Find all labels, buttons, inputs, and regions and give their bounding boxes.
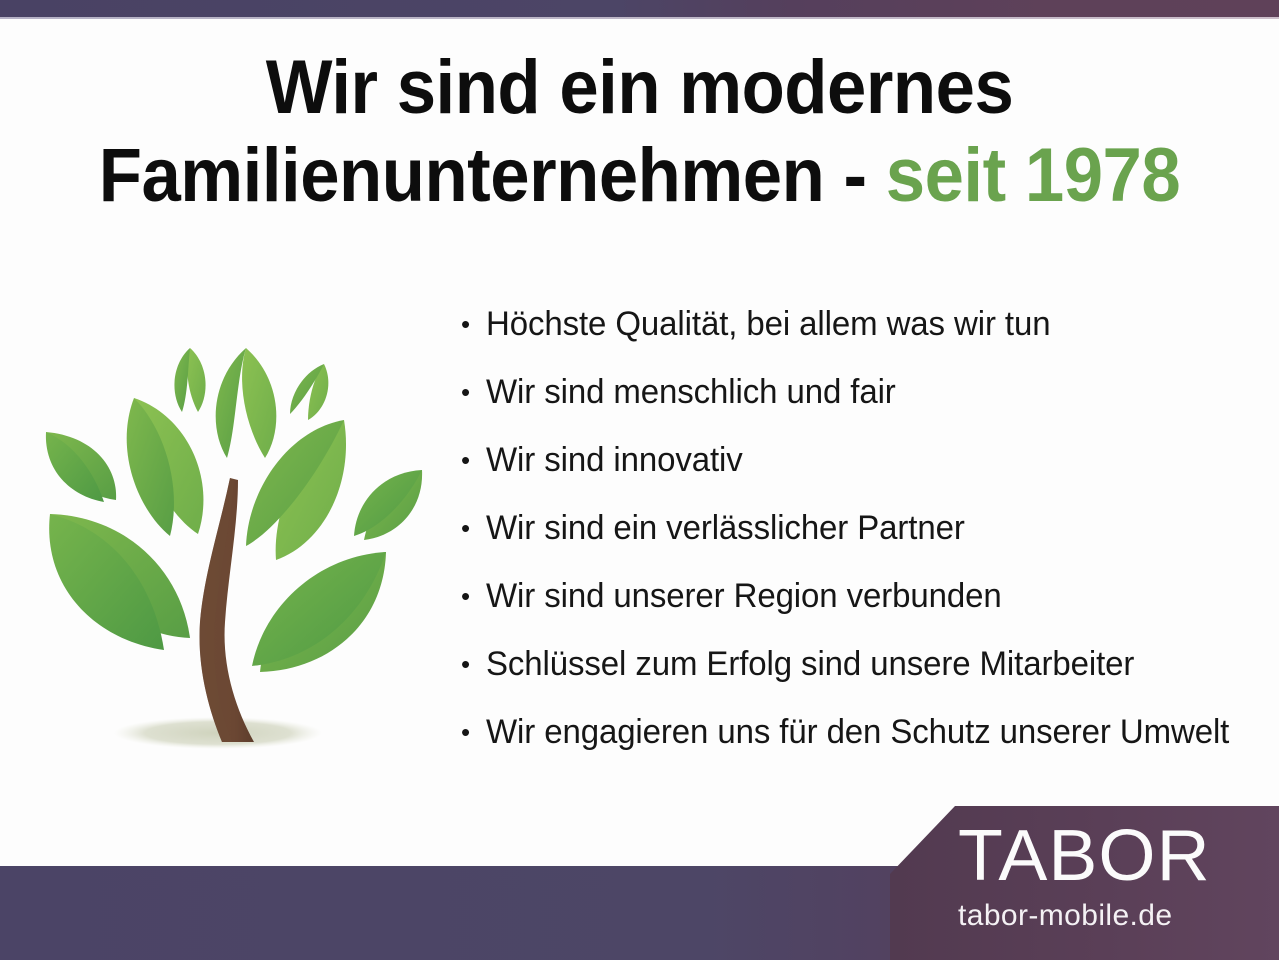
bullet-icon: • xyxy=(456,300,486,348)
slide-canvas: Wir sind ein modernes Familienunternehme… xyxy=(0,0,1279,960)
list-item: • Wir sind unserer Region verbunden xyxy=(456,572,1266,640)
list-item-label: Wir sind unserer Region verbunden xyxy=(486,572,1243,620)
list-item: • Wir engagieren uns für den Schutz unse… xyxy=(456,708,1266,776)
bullet-icon: • xyxy=(456,572,486,620)
top-accent-bar-highlight xyxy=(0,17,1279,19)
leaf-right-small xyxy=(354,470,422,540)
list-item-label: Wir sind menschlich und fair xyxy=(486,368,1243,416)
tree-illustration xyxy=(22,330,442,760)
headline-line-1: Wir sind ein modernes xyxy=(45,44,1234,132)
list-item-label: Wir sind ein verlässlicher Partner xyxy=(486,504,1243,552)
headline-line-2: Familienunternehmen - seit 1978 xyxy=(45,132,1234,220)
bullet-icon: • xyxy=(456,436,486,484)
leaf-lower-right xyxy=(252,552,386,672)
leaf-left-small xyxy=(46,432,116,502)
list-item-label: Wir sind innovativ xyxy=(486,436,1243,484)
leaf-upper-left xyxy=(127,398,204,536)
page-title: Wir sind ein modernes Familienunternehme… xyxy=(45,44,1234,220)
headline-accent-year: seit 1978 xyxy=(886,133,1180,218)
leaf-top-right-small xyxy=(290,364,328,420)
bullet-icon: • xyxy=(456,640,486,688)
bullet-icon: • xyxy=(456,368,486,416)
list-item-label: Höchste Qualität, bei allem was wir tun xyxy=(486,300,1243,348)
list-item: • Wir sind ein verlässlicher Partner xyxy=(456,504,1266,572)
list-item: • Höchste Qualität, bei allem was wir tu… xyxy=(456,300,1266,368)
top-accent-bar xyxy=(0,0,1279,17)
logo-tagline: tabor-mobile.de xyxy=(958,900,1258,932)
list-item: • Wir sind menschlich und fair xyxy=(456,368,1266,436)
list-item-label: Wir engagieren uns für den Schutz unsere… xyxy=(486,708,1243,756)
leaf-top-left-small xyxy=(174,348,205,412)
list-item-label: Schlüssel zum Erfolg sind unsere Mitarbe… xyxy=(486,640,1243,688)
list-item: • Schlüssel zum Erfolg sind unsere Mitar… xyxy=(456,640,1266,708)
leaf-top-center xyxy=(216,348,277,458)
list-item: • Wir sind innovativ xyxy=(456,436,1266,504)
brand-logo[interactable]: TABOR tabor-mobile.de xyxy=(958,820,1258,932)
value-list: • Höchste Qualität, bei allem was wir tu… xyxy=(456,300,1266,776)
headline-line-2-prefix: Familienunternehmen - xyxy=(99,133,886,218)
bullet-icon: • xyxy=(456,504,486,552)
logo-wordmark: TABOR xyxy=(958,820,1264,892)
bullet-icon: • xyxy=(456,708,486,756)
